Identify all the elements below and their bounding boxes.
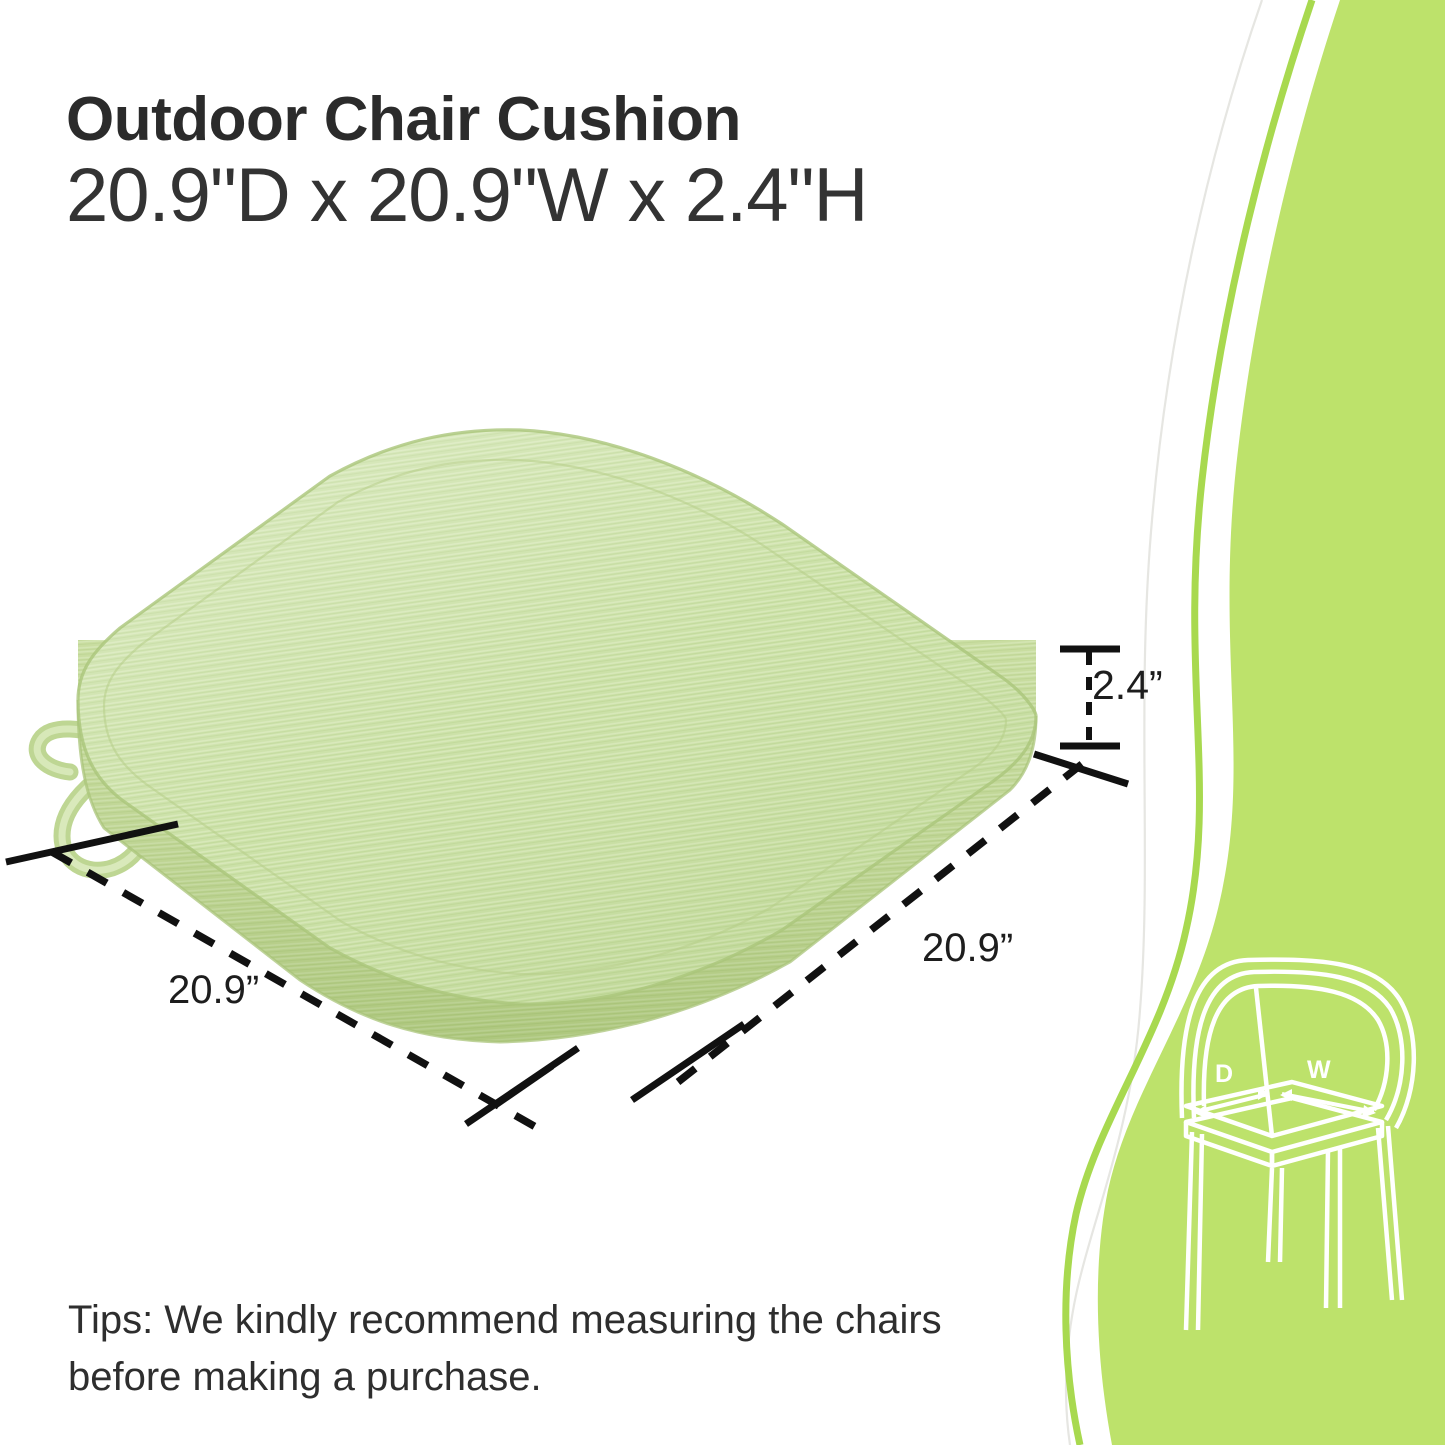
width-dimension-label: 20.9” (922, 926, 1013, 971)
width-tick-end (1034, 754, 1128, 784)
chair-outline-icon: D W (1181, 960, 1413, 1330)
chair-depth-label: D (1215, 1060, 1233, 1088)
depth-tick-end (466, 1048, 578, 1124)
chair-width-label: W (1307, 1056, 1331, 1084)
depth-tick-end-spacer (494, 1106, 552, 1146)
depth-dimension-label: 20.9” (168, 968, 259, 1013)
cushion-illustration: D W (0, 0, 1445, 1445)
width-tick-start (632, 1024, 744, 1100)
tips-text: Tips: We kindly recommend measuring the … (68, 1292, 1058, 1406)
height-dimension-label: 2.4” (1092, 662, 1163, 709)
product-dimension-graphic: Outdoor Chair Cushion 20.9"D x 20.9"W x … (0, 0, 1445, 1445)
